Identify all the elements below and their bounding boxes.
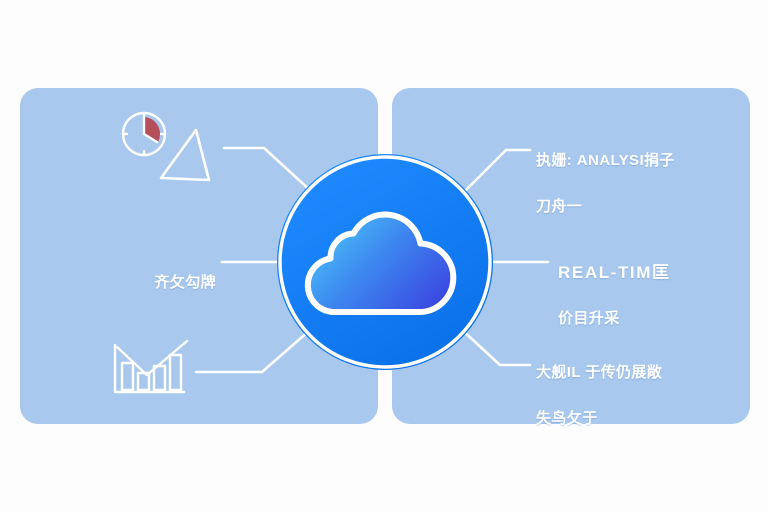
clock-with-pie-wedge-icon: [123, 113, 165, 155]
label-right-top-line2: 刀舟一: [536, 195, 736, 218]
connector-bottom-right: [460, 328, 530, 365]
label-right-top-line1: 执姗: ANALYSI捐子: [536, 149, 736, 172]
label-right-bottom-line2: 失鸟攵于: [536, 407, 746, 430]
bar-chart-trend-icon: [115, 341, 187, 392]
label-left-middle: 齐攵勾牌: [96, 248, 216, 317]
label-right-middle: REAL-TIM匡 价目升采: [558, 238, 748, 353]
hub-node: [277, 154, 493, 370]
label-right-middle-line1: REAL-TIM匡: [558, 261, 748, 284]
label-right-bottom: 大舰IL 于传仍展敞 失鸟攵于: [536, 338, 746, 453]
label-right-middle-line2: 价目升采: [558, 307, 748, 330]
play-triangle-icon: [161, 130, 209, 180]
cloud-analytics-infographic: 齐攵勾牌 执姗: ANALYSI捐子 刀舟一 REAL-TIM匡 价目升采 大舰…: [0, 0, 768, 512]
label-left-middle-line1: 齐攵勾牌: [96, 271, 216, 294]
connector-bottom-left: [196, 330, 310, 372]
connector-top-right: [460, 150, 530, 196]
connector-top-left: [224, 148, 312, 192]
label-right-top: 执姗: ANALYSI捐子 刀舟一: [536, 126, 736, 241]
label-right-bottom-line1: 大舰IL 于传仍展敞: [536, 361, 746, 384]
